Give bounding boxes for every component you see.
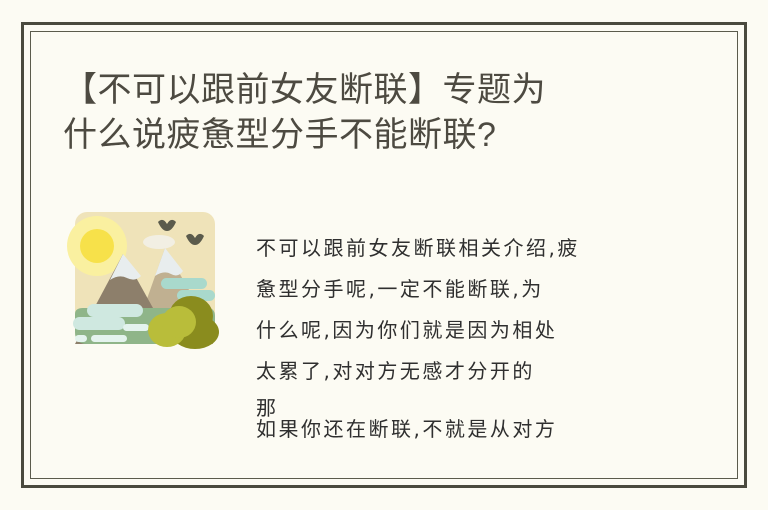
page-title: 【不可以跟前女友断联】专题为 什么说疲惫型分手不能断联? [63, 68, 683, 158]
body-line-5: 如果你还在断联,不就是从对方 [256, 414, 557, 444]
inner-border-frame: 【不可以跟前女友断联】专题为 什么说疲惫型分手不能断联? [30, 31, 738, 479]
body-line-4: 太累了,对对方无感才分开的 [256, 351, 686, 392]
article-body: 不可以跟前女友断联相关介绍,疲 惫型分手呢,一定不能断联,为 什么呢,因为你们就… [256, 228, 686, 444]
title-line-2: 什么说疲惫型分手不能断联? [63, 113, 683, 158]
body-line-1: 不可以跟前女友断联相关介绍,疲 [256, 228, 686, 269]
content-row: 不可以跟前女友断联相关介绍,疲 惫型分手呢,一定不能断联,为 什么呢,因为你们就… [61, 204, 686, 444]
article-illustration [61, 204, 225, 368]
outer-border-frame: 【不可以跟前女友断联】专题为 什么说疲惫型分手不能断联? [21, 22, 747, 488]
body-line-2: 惫型分手呢,一定不能断联,为 [256, 269, 686, 310]
title-line-1: 【不可以跟前女友断联】专题为 [63, 68, 683, 113]
page-root: 【不可以跟前女友断联】专题为 什么说疲惫型分手不能断联? [0, 0, 768, 510]
body-line-3: 什么呢,因为你们就是因为相处 [256, 310, 686, 351]
